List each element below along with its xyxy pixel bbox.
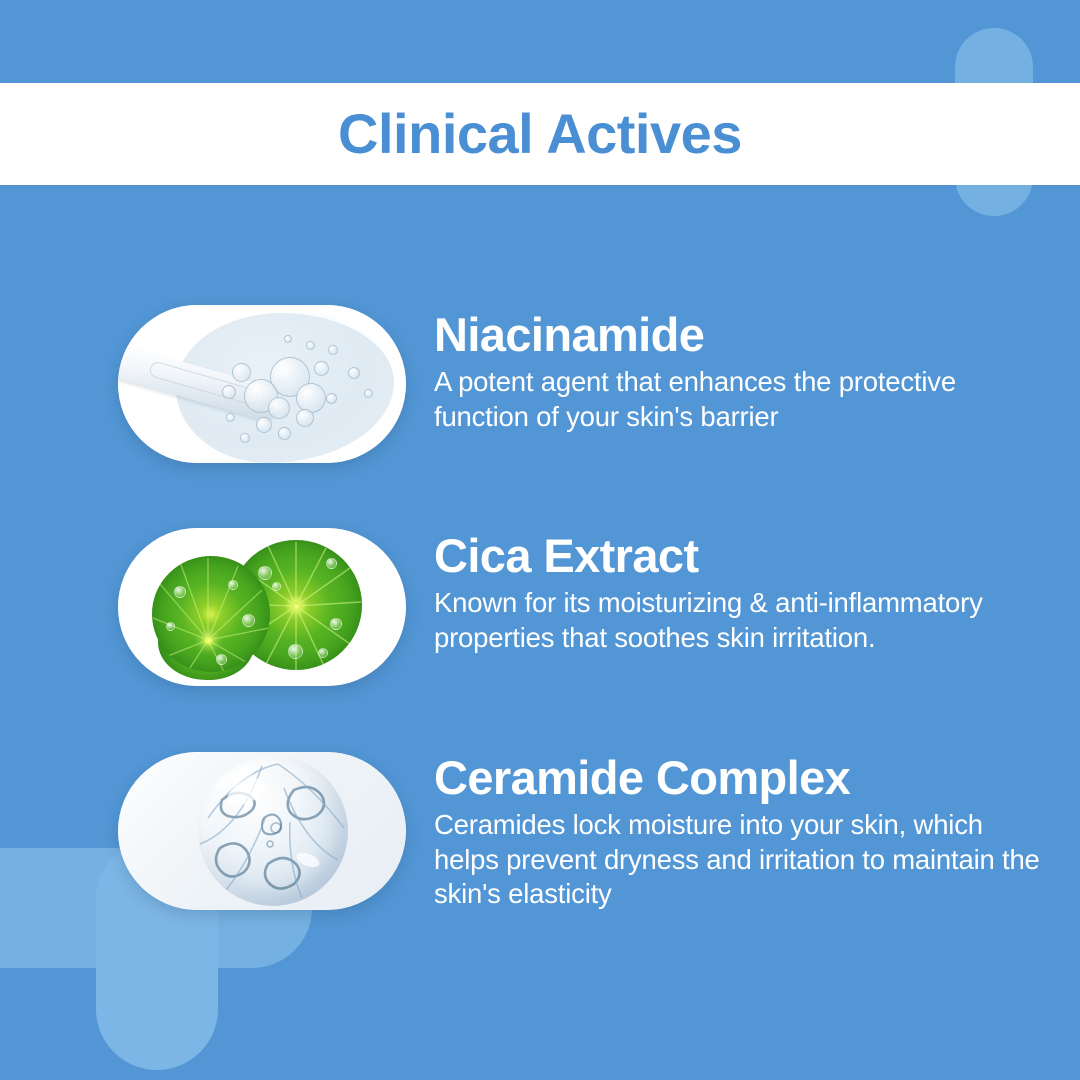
- ingredient-title: Cica Extract: [434, 532, 1044, 580]
- ingredient-row-ceramide-complex: Ceramide Complex Ceramides lock moisture…: [0, 752, 1080, 912]
- ingredient-image-card-cica-extract: [118, 528, 406, 686]
- ingredient-description: Ceramides lock moisture into your skin, …: [434, 808, 1044, 912]
- ingredient-description: A potent agent that enhances the protect…: [434, 365, 1044, 434]
- ingredient-title: Niacinamide: [434, 311, 1044, 359]
- ingredient-description: Known for its moisturizing & anti-inflam…: [434, 586, 1044, 655]
- ingredient-row-niacinamide: Niacinamide A potent agent that enhances…: [0, 305, 1080, 463]
- ingredient-text-niacinamide: Niacinamide A potent agent that enhances…: [434, 305, 1044, 434]
- serum-gel-icon: [118, 305, 406, 463]
- ingredient-image-card-ceramide-complex: [118, 752, 406, 910]
- ingredient-row-cica-extract: Cica Extract Known for its moisturizing …: [0, 528, 1080, 686]
- ingredient-title: Ceramide Complex: [434, 754, 1044, 802]
- centella-leaves-icon: [118, 528, 406, 686]
- ceramide-sphere-icon: [118, 752, 406, 910]
- ingredient-text-cica-extract: Cica Extract Known for its moisturizing …: [434, 528, 1044, 655]
- poster-root: Clinical Actives: [0, 0, 1080, 1080]
- ingredient-list: Niacinamide A potent agent that enhances…: [0, 0, 1080, 1080]
- ingredient-image-card-niacinamide: [118, 305, 406, 463]
- ingredient-text-ceramide-complex: Ceramide Complex Ceramides lock moisture…: [434, 752, 1044, 912]
